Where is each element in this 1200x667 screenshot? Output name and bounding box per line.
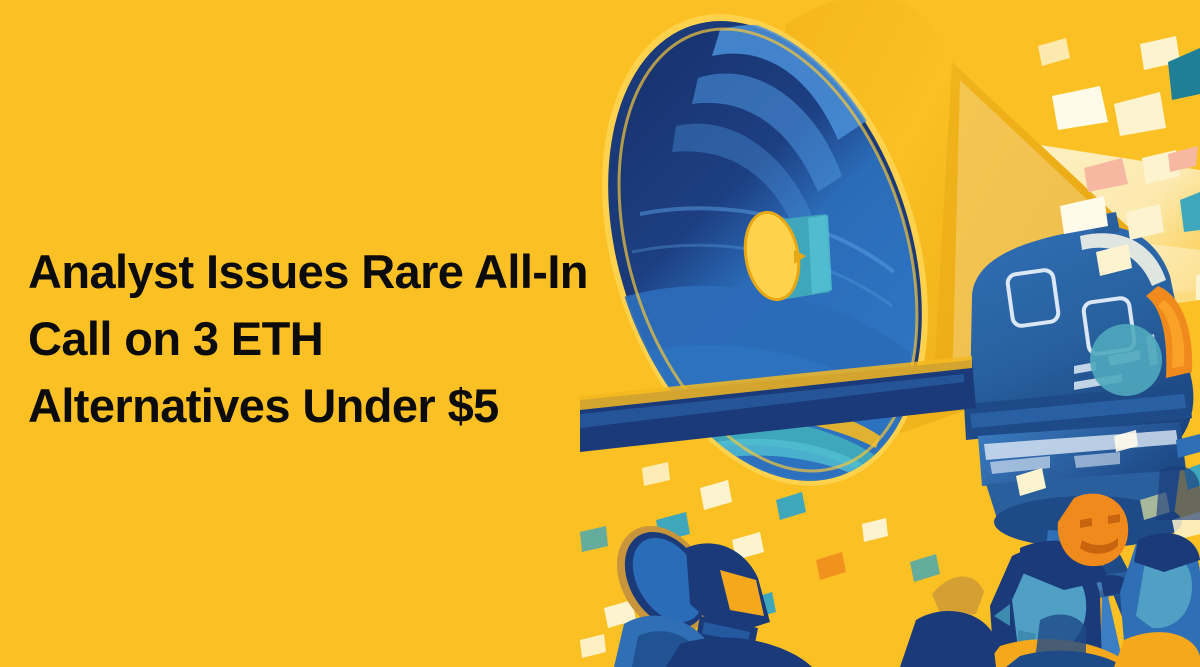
tripod: [978, 324, 1200, 667]
page-title: Analyst Issues Rare All-In Call on 3 ETH…: [28, 238, 588, 439]
megaphone-bell: [580, 0, 985, 528]
megaphone-cone-outer: [744, 0, 1140, 437]
megaphone-mouthpiece: [739, 208, 832, 304]
megaphone-body: [580, 212, 1193, 470]
hand-held-megaphone: [598, 509, 812, 667]
crowd-figures: [900, 466, 1200, 667]
article-hero-banner: Analyst Issues Rare All-In Call on 3 ETH…: [0, 0, 1200, 667]
confetti: [580, 36, 1200, 658]
sound-beam: [872, 120, 1200, 378]
megaphone-crowd-illustration: [580, 0, 1200, 667]
